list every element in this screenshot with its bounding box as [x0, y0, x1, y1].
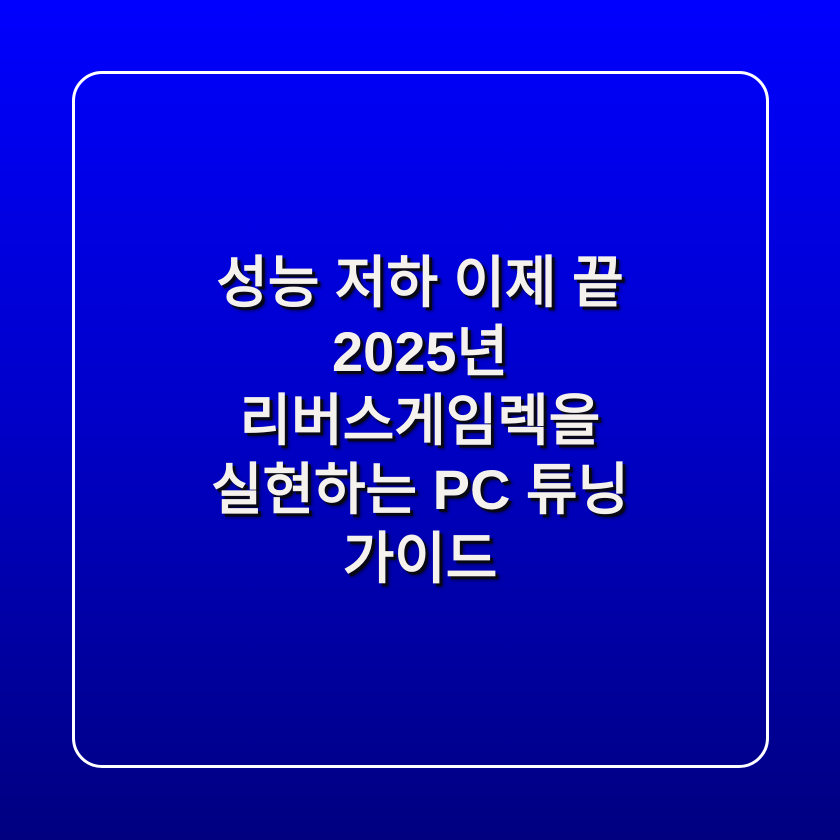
headline-line-5: 가이드 [0, 524, 840, 593]
headline-line-1: 성능 저하 이제 끝 [0, 248, 840, 317]
headline-line-4: 실현하는 PC 튜닝 [0, 455, 840, 524]
headline-line-2: 2025년 [0, 317, 840, 386]
headline-line-3: 리버스게임렉을 [0, 386, 840, 455]
poster-canvas: 성능 저하 이제 끝 2025년 리버스게임렉을 실현하는 PC 튜닝 가이드 [0, 0, 840, 840]
headline-block: 성능 저하 이제 끝 2025년 리버스게임렉을 실현하는 PC 튜닝 가이드 [0, 0, 840, 840]
